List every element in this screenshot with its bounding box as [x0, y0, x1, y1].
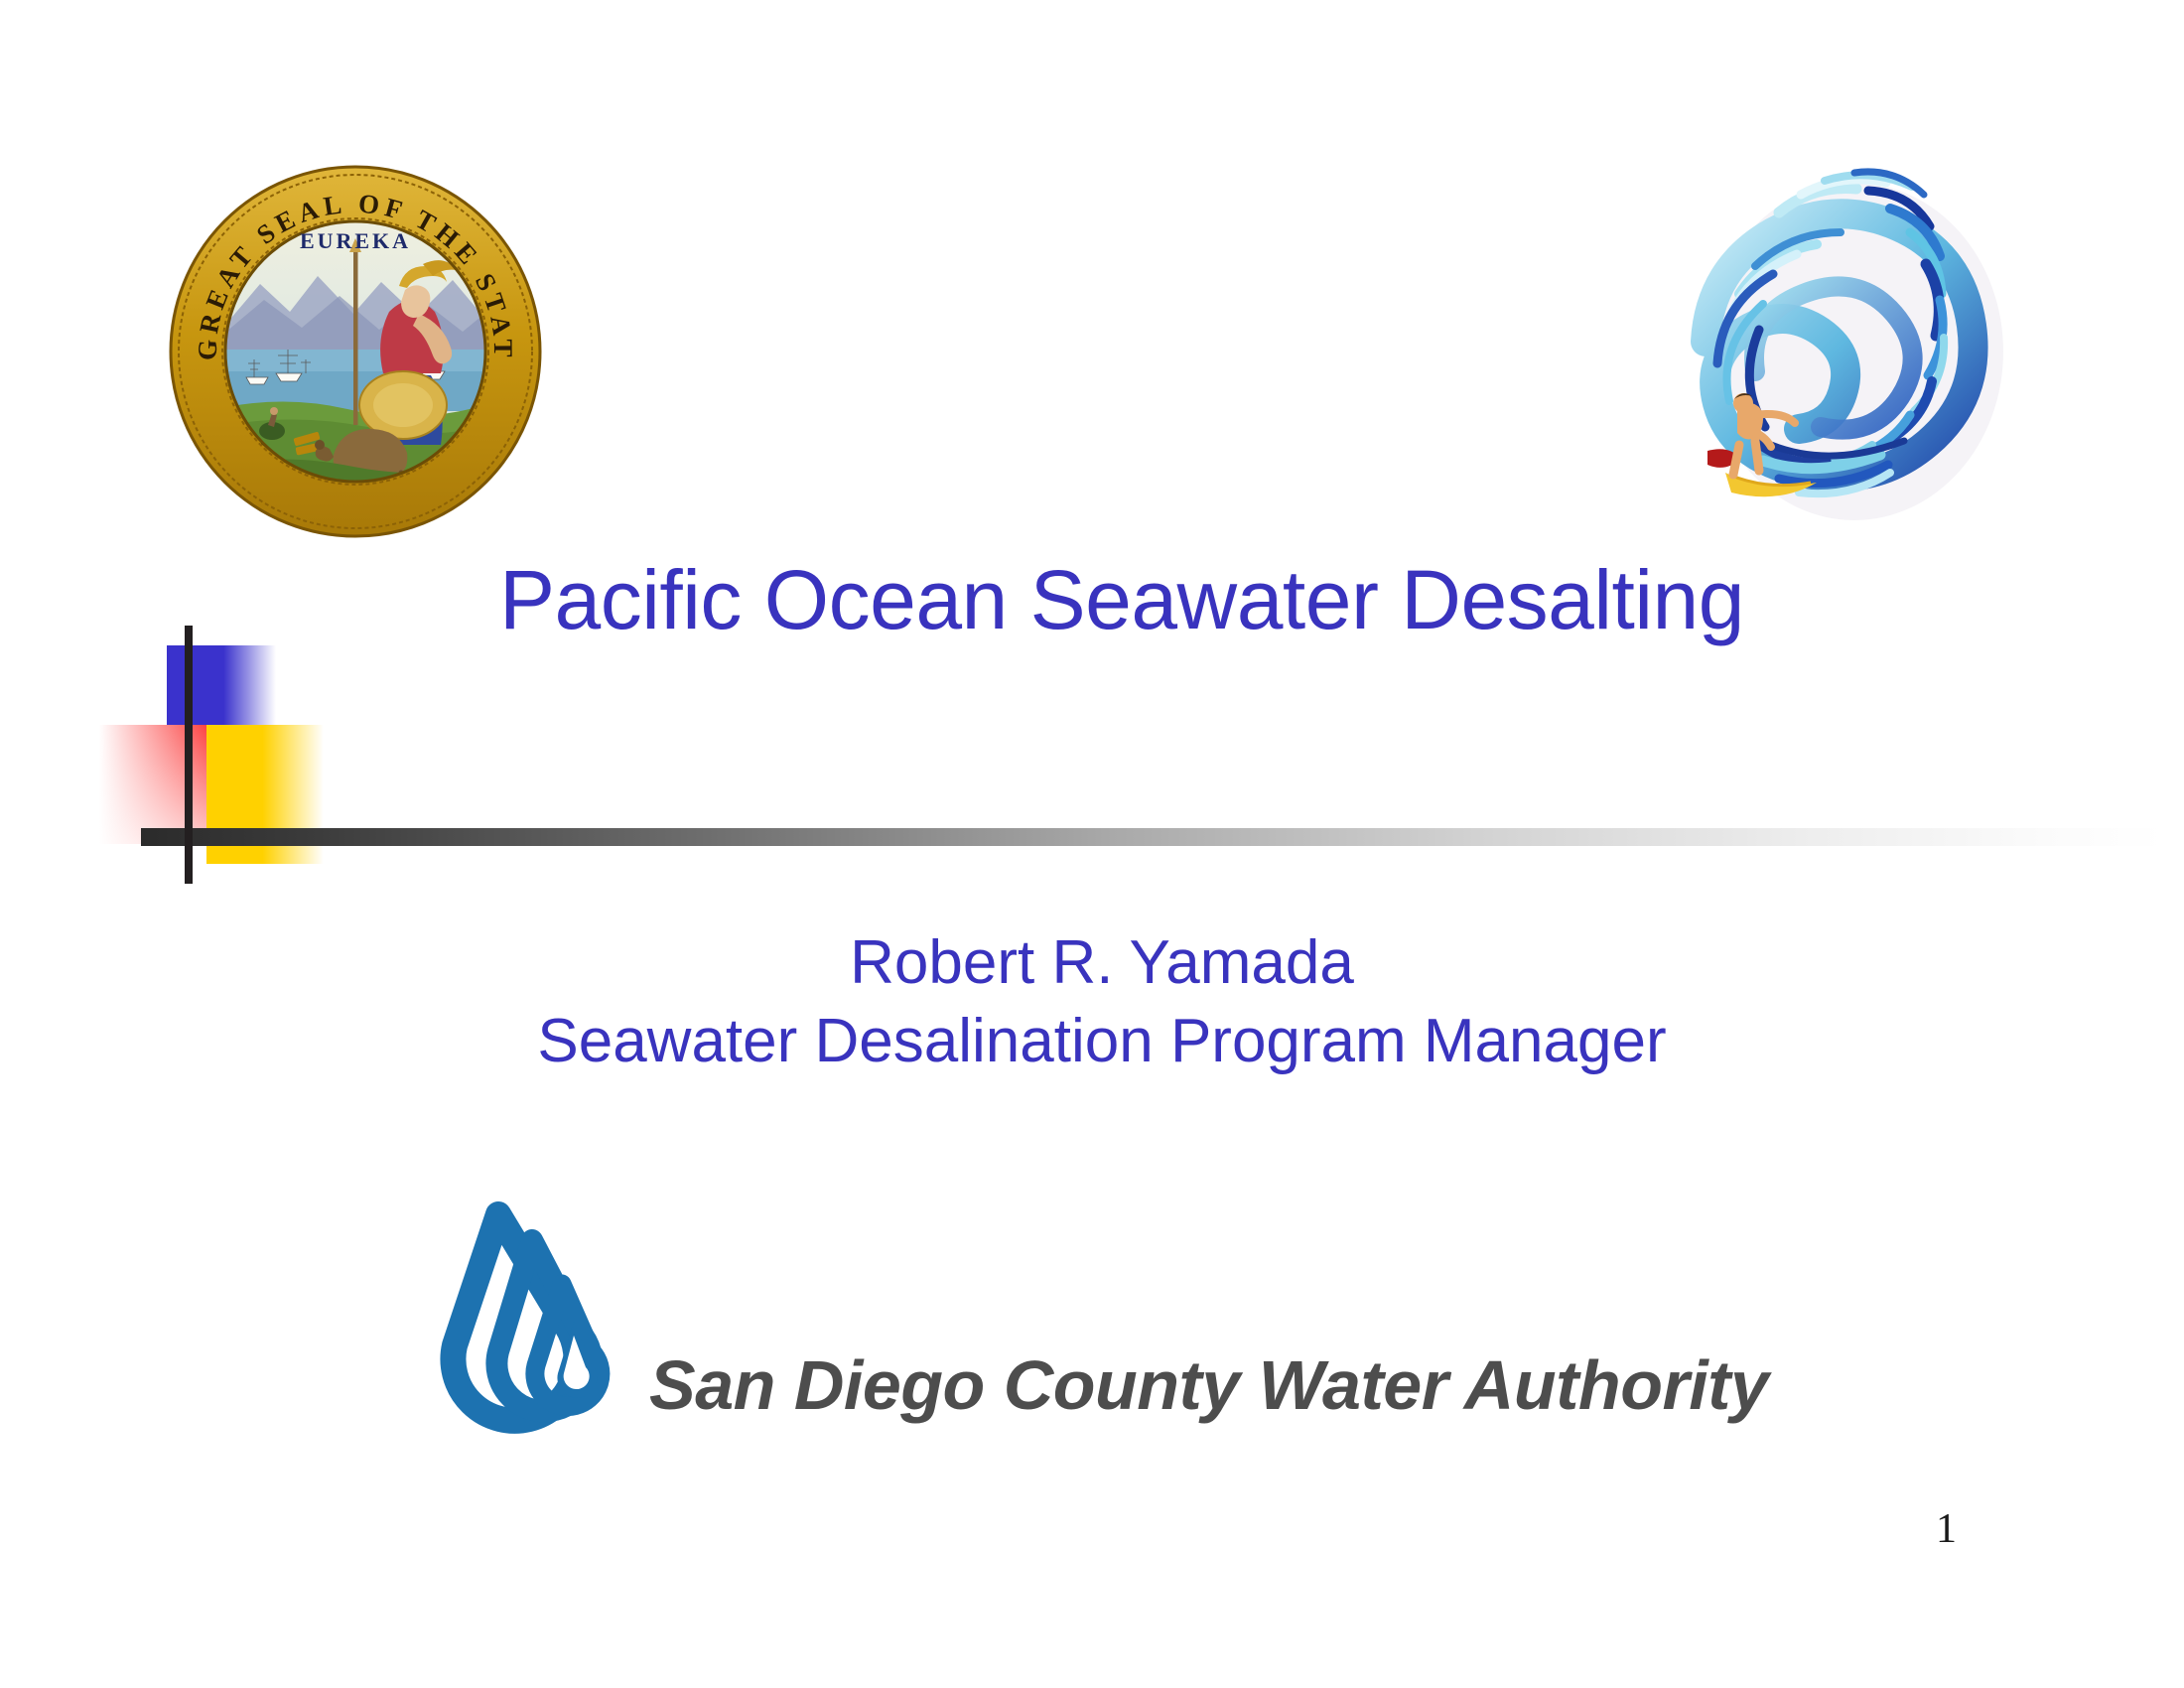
ocean-wave-surfer-icon: [1660, 117, 2013, 528]
presentation-slide: THE GREAT SEAL OF THE STATE OF CALIFORNI…: [0, 0, 2184, 1688]
california-state-seal-image: THE GREAT SEAL OF THE STATE OF CALIFORNI…: [169, 165, 542, 538]
decoration-horizontal-rule: [141, 828, 2164, 846]
water-droplet-icon: [429, 1196, 627, 1484]
presenter-block: Robert R. Yamada Seawater Desalination P…: [179, 923, 2025, 1081]
presenter-role: Seawater Desalination Program Manager: [179, 1002, 2025, 1080]
authority-wordmark: San Diego County Water Authority: [649, 1345, 1768, 1425]
san-diego-county-water-authority-logo: San Diego County Water Authority: [429, 1196, 1283, 1484]
presenter-name: Robert R. Yamada: [179, 923, 2025, 1002]
decoration-vertical-rule: [185, 626, 193, 884]
svg-text:EUREKA: EUREKA: [300, 228, 411, 253]
blends-accent-decoration: [99, 626, 2164, 884]
slide-number: 1: [1936, 1505, 1957, 1553]
decoration-red-square-fade: [99, 725, 220, 844]
